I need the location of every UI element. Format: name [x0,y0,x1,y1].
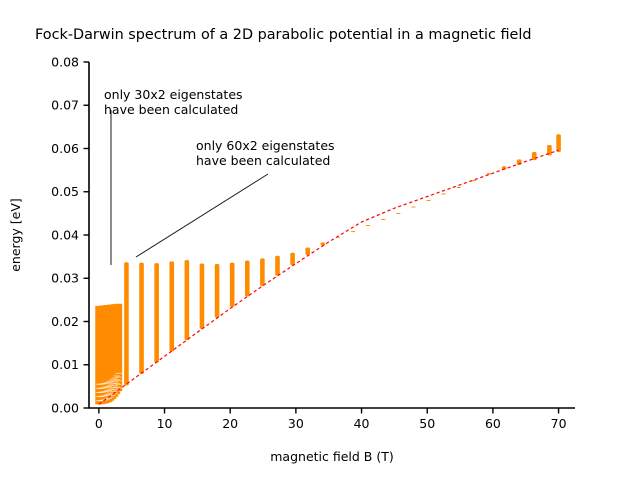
eigenstate-column [260,258,265,286]
annotation-60x2-line1: only 60x2 eigenstates [196,138,335,153]
eigenstate-column [215,264,220,318]
eigenstate-striation [115,387,121,388]
eigenstate-striation [113,390,119,391]
x-tick-label: 50 [419,416,435,431]
eigenstate-striation [113,379,119,380]
y-tick-label: 0.05 [51,184,79,199]
eigenstate-column [154,263,159,362]
x-tick-label: 60 [485,416,501,431]
eigenstate-column [169,261,174,351]
figure-canvas: Fock-Darwin spectrum of a 2D parabolic p… [0,0,640,480]
annotation-30x2-line1: only 30x2 eigenstates [104,87,243,102]
eigenstate-striation [106,398,112,399]
eigenstate-striation [106,390,112,391]
annotation-30x2-line2: have been calculated [104,102,238,117]
eigenstate-column [351,231,356,232]
eigenstate-column [396,213,401,214]
y-axis-label: energy [eV] [8,198,23,272]
y-tick-label: 0.00 [51,400,79,415]
eigenstate-column [290,253,295,266]
eigenstate-column [441,193,446,194]
eigenstate-striation [111,377,117,378]
eigenstate-striation [115,384,121,385]
y-tick-label: 0.04 [51,227,79,242]
eigenstate-column [275,256,280,276]
eigenstate-column [245,261,250,297]
eigenstate-column [366,225,371,226]
eigenstate-column [305,248,310,255]
eigenstate-column [124,262,129,385]
eigenstate-striation [115,373,121,374]
y-tick-label: 0.02 [51,314,79,329]
annotation-60x2-line2: have been calculated [196,153,330,168]
eigenstate-columns [95,134,561,404]
annotation-60x2-leader [136,174,268,257]
x-tick-label: 40 [354,416,370,431]
x-tick-label: 0 [95,416,103,431]
eigenstate-striation [115,380,121,381]
lowest-level-envelope [99,150,559,404]
fock-darwin-plot: 0.000.010.020.030.040.050.060.070.080102… [0,0,640,480]
y-tick-label: 0.08 [51,54,79,69]
eigenstate-striation [106,386,112,387]
eigenstate-column [411,206,416,207]
eigenstate-striation [111,389,117,390]
eigenstate-column [556,134,561,152]
eigenstate-column [321,242,326,245]
eigenstate-striation [115,377,121,378]
eigenstate-column [532,152,537,160]
eigenstate-column [185,260,190,340]
eigenstate-striation [106,382,112,383]
eigenstate-column [381,219,386,220]
eigenstate-column [230,263,235,307]
y-tick-label: 0.06 [51,141,79,156]
y-tick-label: 0.01 [51,357,79,372]
eigenstate-column [456,187,461,188]
y-tick-label: 0.07 [51,98,79,113]
x-tick-label: 20 [222,416,238,431]
x-tick-label: 30 [288,416,304,431]
eigenstate-column [139,263,144,374]
eigenstate-striation [111,385,117,386]
y-tick-label: 0.03 [51,271,79,286]
eigenstate-column [200,264,205,329]
eigenstate-column [426,200,431,201]
x-tick-label: 10 [157,416,173,431]
x-axis-label: magnetic field B (T) [270,449,394,464]
eigenstate-striation [106,394,112,395]
x-tick-label: 70 [551,416,567,431]
eigenstate-striation [113,375,119,376]
eigenstate-striation [111,381,117,382]
eigenstate-striation [113,383,119,384]
eigenstate-column [487,173,492,174]
